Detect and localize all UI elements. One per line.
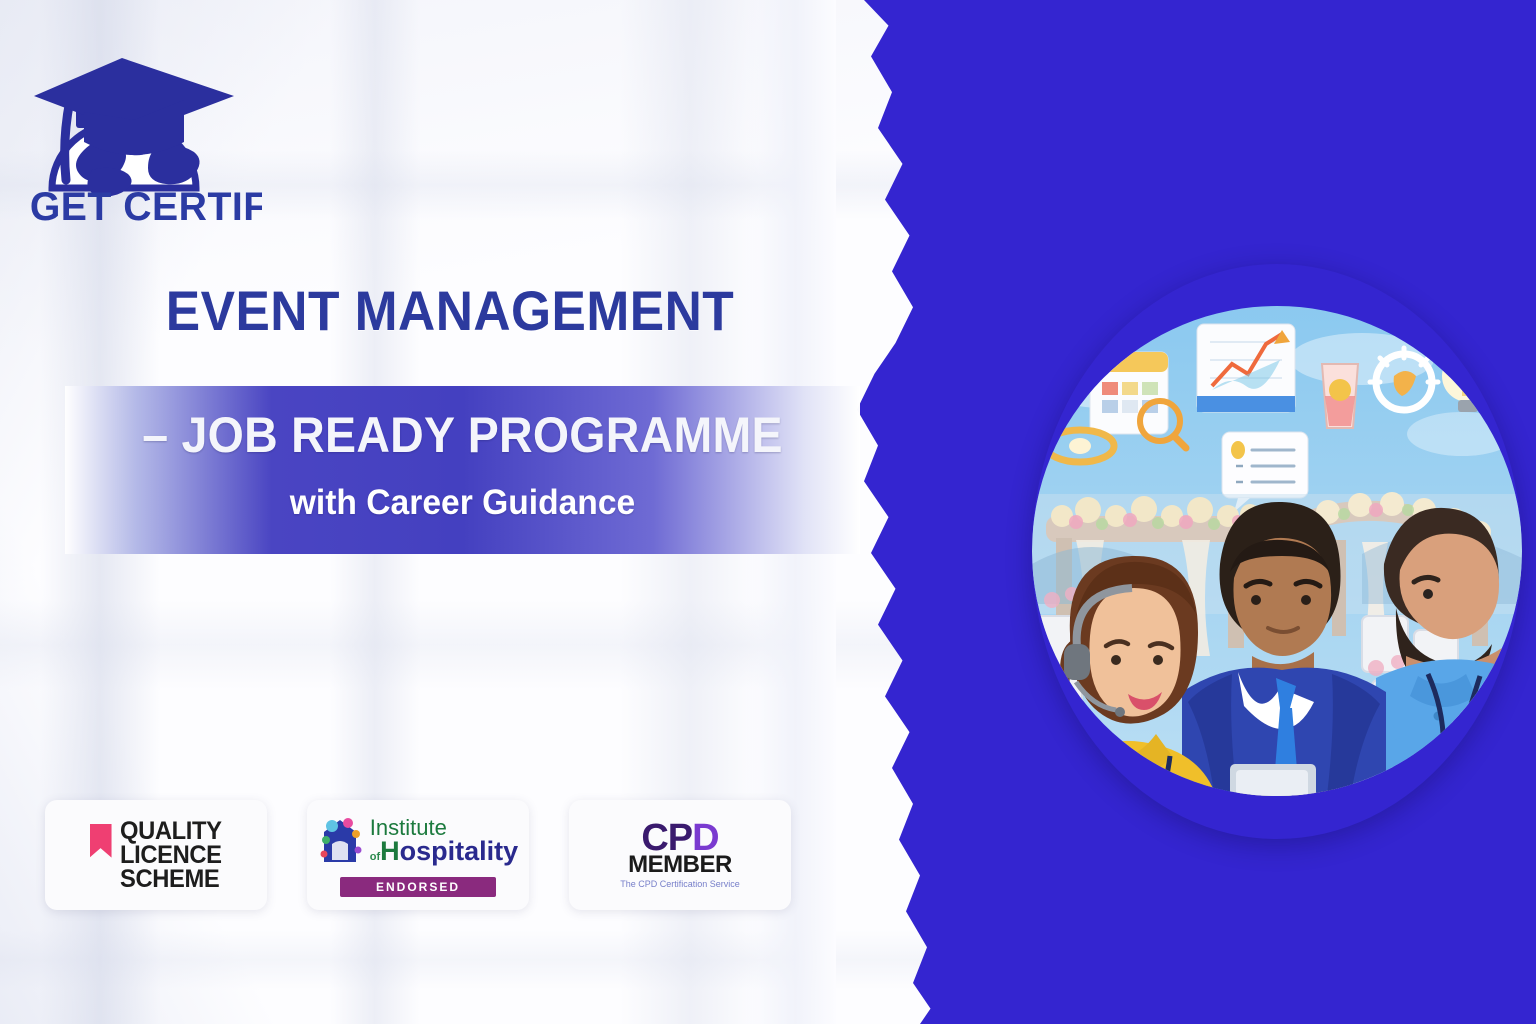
badge-quality-licence-scheme[interactable]: QUALITY LICENCE SCHEME <box>45 800 267 910</box>
badge-cpd-member[interactable]: CPD MEMBER The CPD Certification Service <box>569 800 791 910</box>
headline-primary: EVENT MANAGEMENT <box>36 278 864 343</box>
accreditation-badges: QUALITY LICENCE SCHEME <box>45 800 791 910</box>
headline-block: EVENT MANAGEMENT – JOB READY PROGRAMME w… <box>0 278 900 343</box>
brand-logo[interactable]: GET CERTIFY <box>22 38 262 228</box>
graduation-cap-globe-icon <box>34 58 234 196</box>
ioh-line-2-emphasis: H <box>380 836 400 866</box>
ioh-endorsed-ribbon: ENDORSED <box>340 877 496 897</box>
headline-tertiary: with Career Guidance <box>81 483 844 523</box>
drink-glass-icon <box>1322 364 1358 428</box>
promotional-banner: GET CERTIFY EVENT MANAGEMENT – JOB READY… <box>0 0 1536 1024</box>
badge-institute-of-hospitality[interactable]: Institute ofHospitality ENDORSED <box>307 800 529 910</box>
logo-text: GET CERTIFY <box>30 185 262 228</box>
ioh-line-2-rest: ospitality <box>400 836 519 866</box>
qls-line-2: LICENCE <box>120 843 222 867</box>
cpd-line-3: The CPD Certification Service <box>620 879 740 889</box>
headline-secondary: – JOB READY PROGRAMME <box>93 406 832 464</box>
qls-line-3: SCHEME <box>120 867 222 891</box>
cpd-line-2: MEMBER <box>628 853 732 877</box>
qls-line-1: QUALITY <box>120 819 222 843</box>
event-management-team-illustration <box>1032 264 1522 839</box>
hospitality-splash-icon <box>318 814 364 870</box>
ioh-connector: of <box>370 851 380 863</box>
headline-band: – JOB READY PROGRAMME with Career Guidan… <box>65 386 860 554</box>
bookmark-icon <box>90 824 112 858</box>
growth-chart-card-icon <box>1197 324 1295 412</box>
